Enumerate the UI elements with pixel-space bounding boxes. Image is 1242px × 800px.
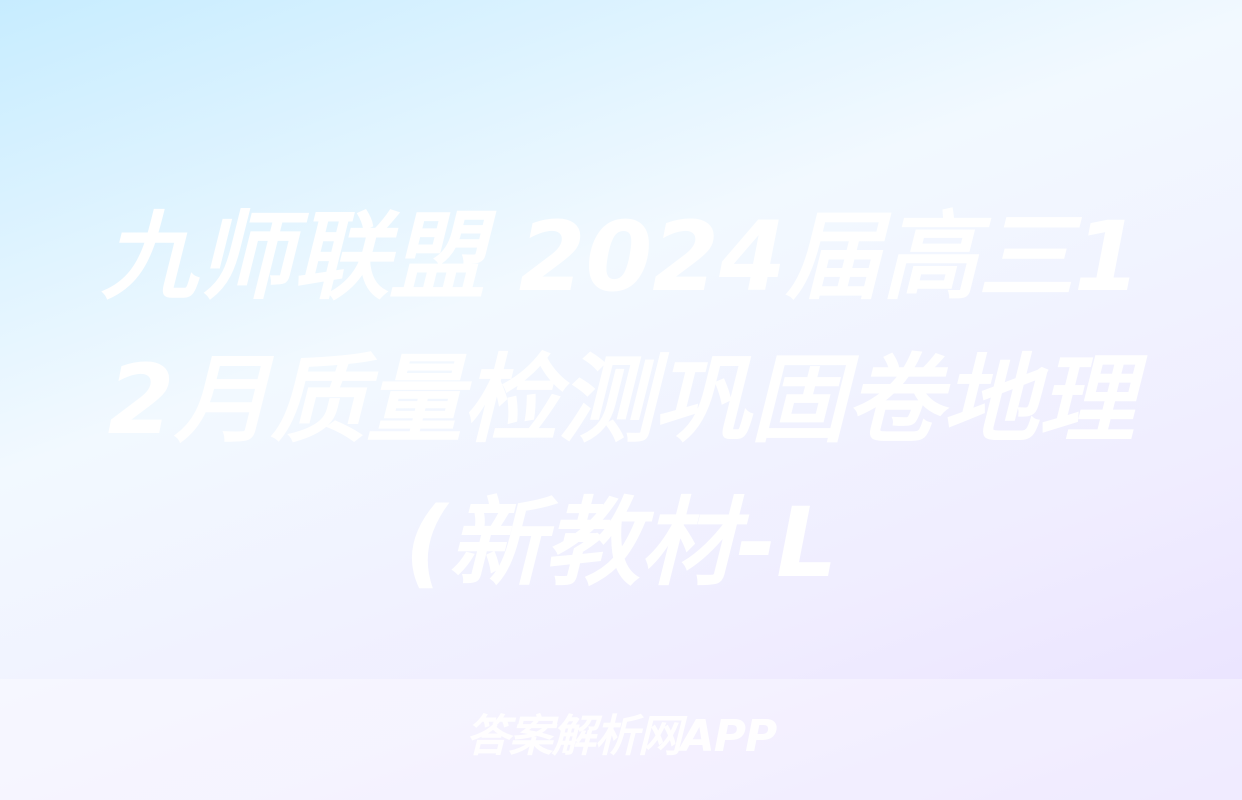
watermark: 答案解析网APP (0, 712, 1242, 762)
watermark-label: 答案解析网APP (466, 712, 777, 762)
page-title: 九师联盟 2024届高三12月质量检测巩固卷地理(新教材-L (0, 186, 1242, 615)
exam-cover-card: 九师联盟 2024届高三12月质量检测巩固卷地理(新教材-L 答案解析网APP (0, 0, 1242, 800)
page-title-text: 九师联盟 2024届高三12月质量检测巩固卷地理(新教材-L (70, 186, 1172, 615)
